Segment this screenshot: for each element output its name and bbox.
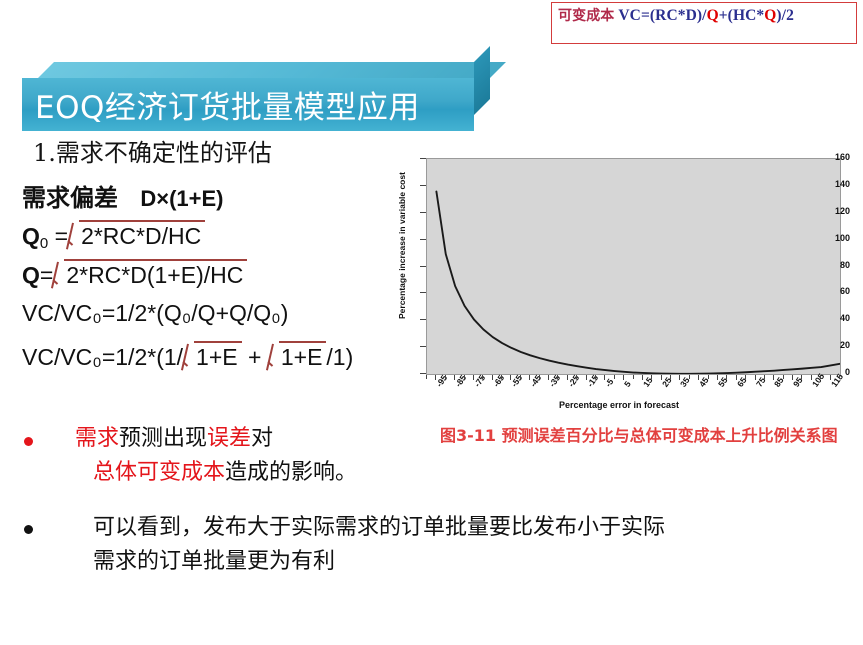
chart-y-tick-mark <box>420 346 426 347</box>
formula-vc-ratio-2-radicand-1: 1+E <box>194 341 242 371</box>
chart-x-minor-tick <box>708 375 709 379</box>
radical-glyph-icon <box>268 344 281 370</box>
radical-glyph-icon <box>68 223 81 249</box>
chart-y-tick-label: 140 <box>820 179 850 189</box>
bullet-1-line-1: 需求预测出现误差对 <box>75 422 405 456</box>
chart-y-tick-label: 120 <box>820 206 850 216</box>
chart-y-tick-label: 80 <box>820 260 850 270</box>
variable-cost-formula: 可变成本 VC=(RC*D)/Q+(HC*Q)/2 <box>558 5 794 25</box>
formula-q: Q=2*RC*D(1+E)/HC <box>22 259 247 289</box>
bullet-marker-2 <box>24 525 33 534</box>
formula-vc-ratio-2-mid: + <box>242 344 268 370</box>
chart-y-tick-mark <box>420 292 426 293</box>
chart-x-minor-tick <box>801 375 802 379</box>
bullet-1-line-2: 总体可变成本造成的影响。 <box>93 456 405 490</box>
slide-title-banner: EOQ经济订货批量模型应用 <box>22 78 474 131</box>
forecast-error-chart: Percentage increase in variable cost 020… <box>388 152 850 414</box>
chart-curve-svg <box>427 159 840 374</box>
formula-label-cn: 可变成本 <box>558 8 614 24</box>
chart-x-minor-tick <box>520 375 521 379</box>
chart-x-tick-label: 15 <box>641 375 655 388</box>
demand-deviation-label: 需求偏差 <box>22 184 118 212</box>
chart-x-minor-tick <box>445 375 446 379</box>
formula-expr-part1: VC=(RC*D) <box>614 7 702 24</box>
radical-symbol-4: 1+E <box>268 341 327 371</box>
chart-x-minor-tick <box>764 375 765 379</box>
formula-q0-lead: Q <box>22 223 40 249</box>
bullet-2-line-1: 可以看到，发布大于实际需求的订单批量要比发布小于实际 <box>93 511 863 545</box>
banner-front-face: EOQ经济订货批量模型应用 <box>22 78 474 131</box>
bullet-1-seg-5: 总体可变成本 <box>93 460 225 485</box>
chart-x-axis-label: Percentage error in forecast <box>388 400 850 410</box>
chart-caption: 图3-11 预测误差百分比与总体可变成本上升比例关系图 <box>440 424 840 448</box>
formula-vc-ratio-1-text: VC/VC₀=1/2*(Q₀/Q+Q/Q₀) <box>22 300 288 326</box>
formula-q-lead: Q <box>22 262 40 288</box>
chart-x-minor-tick <box>783 375 784 379</box>
bullet-1-seg-3: 误差 <box>207 426 251 451</box>
radical-glyph-icon <box>53 262 66 288</box>
chart-x-tick-label: 85 <box>772 375 786 388</box>
chart-x-minor-tick <box>839 375 840 379</box>
chart-series-line <box>436 192 840 374</box>
formula-vc-ratio-2-suffix: /1) <box>326 344 353 370</box>
chart-x-minor-tick <box>726 375 727 379</box>
chart-y-tick-mark <box>420 319 426 320</box>
chart-x-tick-label: 5 <box>622 379 633 389</box>
chart-x-minor-tick <box>464 375 465 379</box>
page-title: EOQ经济订货批量模型应用 <box>35 82 420 127</box>
chart-y-tick-mark <box>420 185 426 186</box>
chart-y-axis-label: Percentage increase in variable cost <box>397 179 407 319</box>
chart-y-tick-label: 160 <box>820 152 850 162</box>
radical-symbol-2: 2*RC*D(1+E)/HC <box>53 259 247 289</box>
banner-right-face <box>474 46 490 115</box>
chart-x-minor-tick <box>745 375 746 379</box>
bullet-item-2: 可以看到，发布大于实际需求的订单批量要比发布小于实际 需求的订单批量更为有利 <box>93 511 863 579</box>
radical-symbol-1: 2*RC*D/HC <box>68 220 205 250</box>
chart-y-tick-mark <box>420 212 426 213</box>
chart-y-tick-label: 60 <box>820 286 850 296</box>
chart-x-minor-tick <box>426 375 427 379</box>
chart-x-minor-tick <box>614 375 615 379</box>
formula-q0-equals: = <box>48 223 68 249</box>
bullet-1-seg-6: 造成的影响。 <box>225 460 357 485</box>
formula-vc-ratio-2-prefix: VC/VC₀=1/2*(1/ <box>22 344 183 370</box>
demand-deviation-line: 需求偏差 D×(1+E) <box>22 178 224 213</box>
chart-x-tick-label: 55 <box>716 375 730 388</box>
formula-vc-ratio-2-radicand-2: 1+E <box>279 341 327 371</box>
formula-vc-ratio-2: VC/VC₀=1/2*(1/1+E + 1+E/1) <box>22 341 353 371</box>
demand-deviation-expr: D×(1+E) <box>140 186 223 211</box>
bullet-marker-1 <box>24 437 33 446</box>
chart-x-minor-tick <box>595 375 596 379</box>
formula-vc-ratio-1: VC/VC₀=1/2*(Q₀/Q+Q/Q₀) <box>22 300 288 327</box>
chart-x-tick-label: 65 <box>735 375 749 388</box>
formula-q-1: Q <box>707 7 719 24</box>
banner-top-face <box>38 62 506 78</box>
bullet-1-seg-2: 预测出现 <box>119 426 207 451</box>
chart-x-tick-label: 95 <box>791 375 805 388</box>
bullet-1-seg-4: 对 <box>251 426 273 451</box>
formula-q-radicand: 2*RC*D(1+E)/HC <box>64 259 247 289</box>
bullet-2-line-2: 需求的订单批量更为有利 <box>93 545 863 579</box>
chart-x-minor-tick <box>482 375 483 379</box>
chart-x-minor-tick <box>501 375 502 379</box>
formula-expr-part3: )/2 <box>776 7 794 24</box>
variable-cost-formula-box: 可变成本 VC=(RC*D)/Q+(HC*Q)/2 <box>551 2 857 44</box>
radical-symbol-3: 1+E <box>183 341 242 371</box>
chart-x-minor-tick <box>633 375 634 379</box>
bullet-item-1: 需求预测出现误差对 总体可变成本造成的影响。 <box>75 422 405 490</box>
chart-y-tick-mark <box>420 158 426 159</box>
chart-x-minor-tick <box>820 375 821 379</box>
chart-y-tick-mark <box>420 266 426 267</box>
chart-x-minor-tick <box>651 375 652 379</box>
radical-glyph-icon <box>183 344 196 370</box>
chart-x-minor-tick <box>670 375 671 379</box>
chart-y-tick-mark <box>420 373 426 374</box>
section-subheading: 1.需求不确定性的评估 <box>33 133 272 168</box>
chart-y-tick-label: 40 <box>820 313 850 323</box>
formula-q-2: Q <box>764 7 776 24</box>
formula-q0-subscript: 0 <box>40 235 48 252</box>
formula-expr-part2: +(HC* <box>719 7 765 24</box>
formula-q0: Q0 =2*RC*D/HC <box>22 220 205 252</box>
formula-q0-radicand: 2*RC*D/HC <box>79 220 205 250</box>
chart-y-tick-mark <box>420 239 426 240</box>
chart-y-tick-label: 20 <box>820 340 850 350</box>
chart-x-tick-label: 35 <box>678 375 692 388</box>
chart-x-minor-tick <box>576 375 577 379</box>
chart-y-tick-label: 100 <box>820 233 850 243</box>
chart-x-minor-tick <box>539 375 540 379</box>
chart-x-tick-label: 75 <box>754 375 768 388</box>
chart-x-minor-tick <box>557 375 558 379</box>
chart-x-tick-label: 45 <box>697 375 711 388</box>
chart-plot-area <box>426 158 841 375</box>
chart-x-tick-label: 25 <box>660 375 674 388</box>
bullet-1-seg-1: 需求 <box>75 426 119 451</box>
chart-x-minor-tick <box>689 375 690 379</box>
